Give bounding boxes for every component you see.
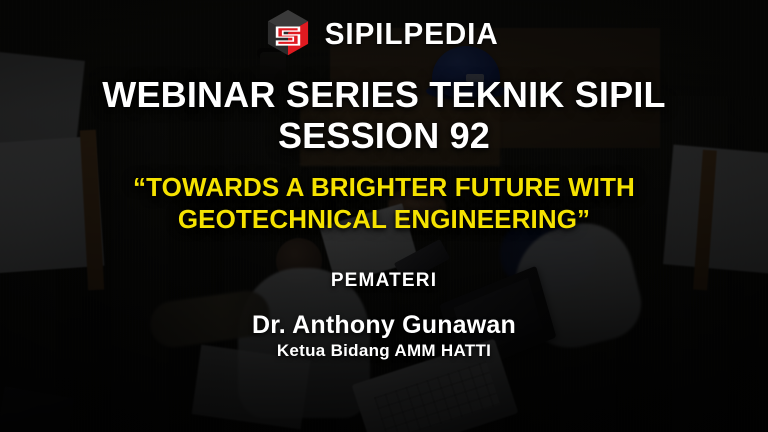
title-line-2: SESSION 92 (102, 116, 665, 157)
theme-line-2: GEOTECHNICAL ENGINEERING” (133, 204, 635, 235)
theme-title: “TOWARDS A BRIGHTER FUTURE WITH GEOTECHN… (133, 172, 635, 234)
speaker-label: PEMATERI (252, 271, 516, 290)
speaker-name: Dr. Anthony Gunawan (252, 312, 516, 340)
brand-lockup: SIPILPEDIA (266, 9, 502, 57)
speaker-section: PEMATERI Dr. Anthony Gunawan Ketua Bidan… (252, 271, 516, 361)
title-line-1: WEBINAR SERIES TEKNIK SIPIL (102, 75, 665, 116)
theme-line-1: “TOWARDS A BRIGHTER FUTURE WITH (133, 172, 635, 203)
webinar-slide: SIPILPEDIA WEBINAR SERIES TEKNIK SIPIL S… (0, 0, 768, 432)
sipilpedia-cube-s-icon (266, 9, 310, 57)
slide-content: SIPILPEDIA WEBINAR SERIES TEKNIK SIPIL S… (0, 0, 768, 432)
brand-name: SIPILPEDIA (324, 18, 498, 49)
speaker-role: Ketua Bidang AMM HATTI (252, 341, 516, 361)
main-title: WEBINAR SERIES TEKNIK SIPIL SESSION 92 (102, 75, 665, 156)
